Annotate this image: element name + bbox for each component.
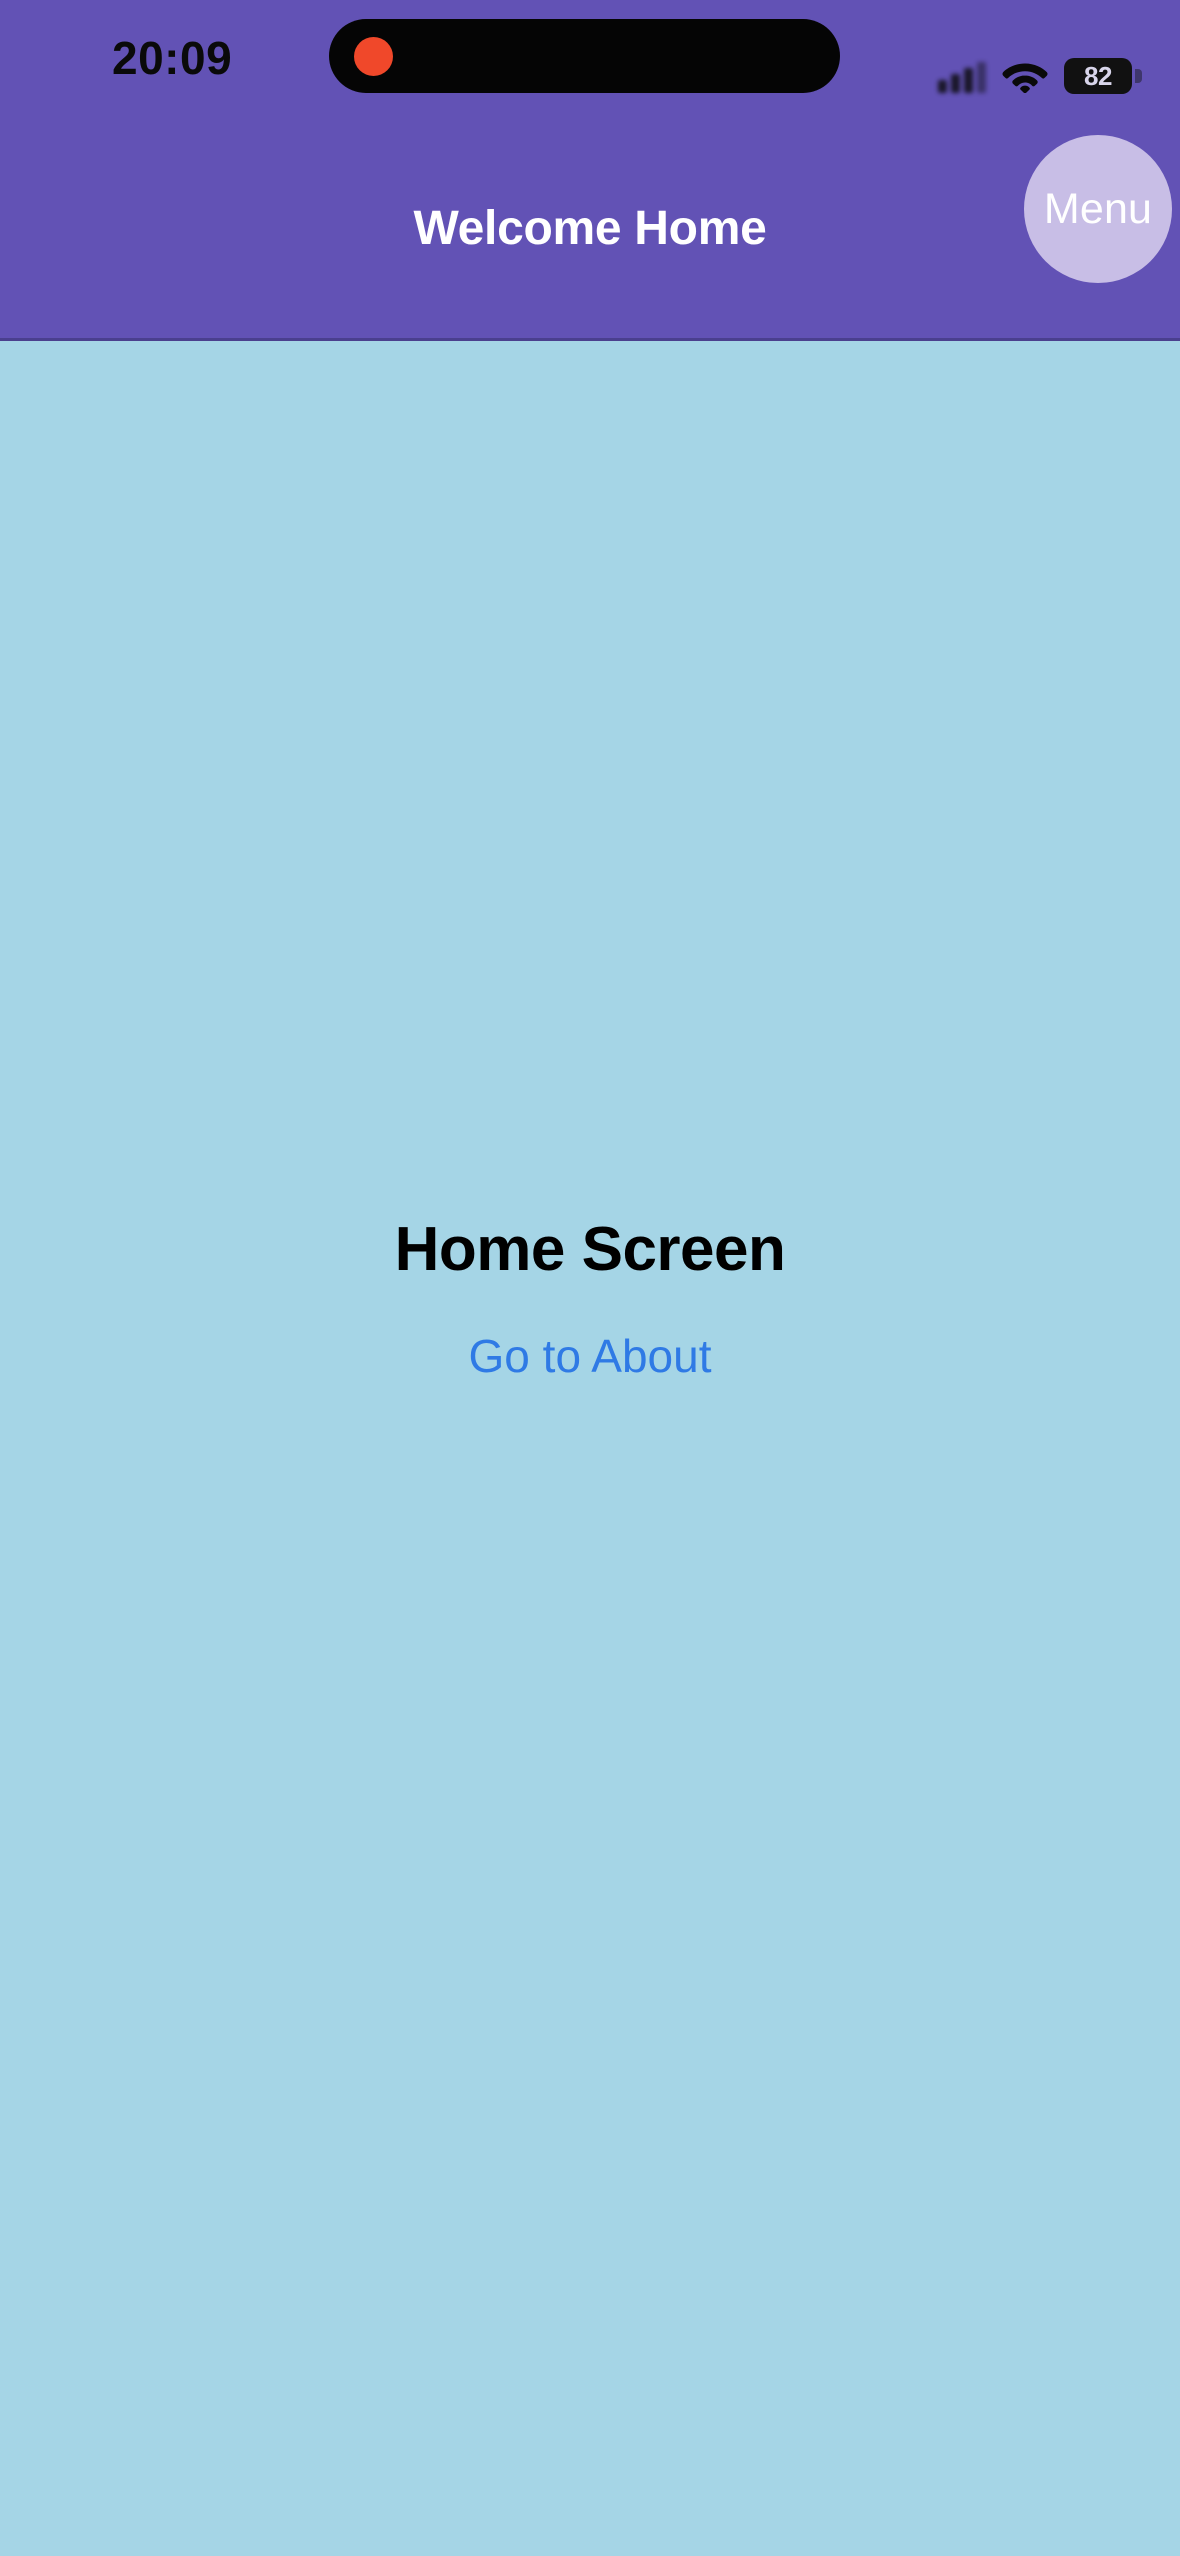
battery-level-label: 82 — [1084, 63, 1112, 89]
status-bar: 20:09 82 — [0, 0, 1180, 115]
app-header: 20:09 82 — [0, 0, 1180, 341]
menu-button-label: Menu — [1044, 185, 1152, 234]
screen-heading: Home Screen — [395, 1214, 786, 1285]
cellular-signal-icon — [938, 59, 986, 93]
status-bar-time: 20:09 — [112, 31, 232, 85]
status-bar-icons: 82 — [938, 52, 1142, 100]
recording-dot-icon — [354, 37, 393, 76]
battery-icon: 82 — [1064, 58, 1142, 94]
phone-screen: 20:09 82 — [0, 0, 1180, 2556]
dynamic-island — [329, 19, 840, 93]
menu-button[interactable]: Menu — [1024, 135, 1172, 283]
page-title: Welcome Home — [414, 201, 767, 256]
navigation-bar: Welcome Home Menu — [0, 115, 1180, 341]
go-to-about-link[interactable]: Go to About — [469, 1329, 712, 1383]
wifi-icon — [1002, 59, 1048, 93]
main-content: Home Screen Go to About — [0, 341, 1180, 2556]
battery-cap-icon — [1135, 69, 1142, 83]
